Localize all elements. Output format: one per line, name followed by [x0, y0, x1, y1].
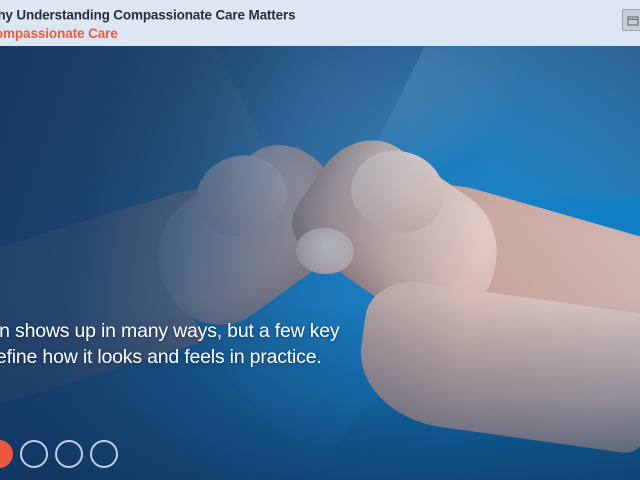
pagination-dot-2[interactable] [20, 440, 48, 468]
page-title: Briefs® Why Understanding Compassionate … [0, 3, 295, 24]
slide-hero-image[interactable]: passion shows up in many ways, but a few… [0, 46, 640, 480]
slide-viewer-page: Briefs® Why Understanding Compassionate … [0, 0, 640, 480]
header-control-button[interactable] [622, 9, 640, 31]
pagination-dot-4[interactable] [90, 440, 118, 468]
window-control-icon [627, 16, 639, 26]
pagination-dots[interactable] [0, 440, 118, 468]
pagination-dot-1[interactable] [0, 440, 13, 468]
pagination-dot-3[interactable] [55, 440, 83, 468]
slide-body-text: passion shows up in many ways, but a few… [0, 318, 414, 370]
photo-right-shoulder [420, 46, 640, 196]
article-title-rest: Why Understanding Compassionate Care Mat… [0, 8, 295, 23]
slide-subtitle: ents of Compassionate Care [0, 25, 295, 42]
header-bar: Briefs® Why Understanding Compassionate … [0, 0, 640, 46]
header-text-block: Briefs® Why Understanding Compassionate … [0, 3, 295, 42]
